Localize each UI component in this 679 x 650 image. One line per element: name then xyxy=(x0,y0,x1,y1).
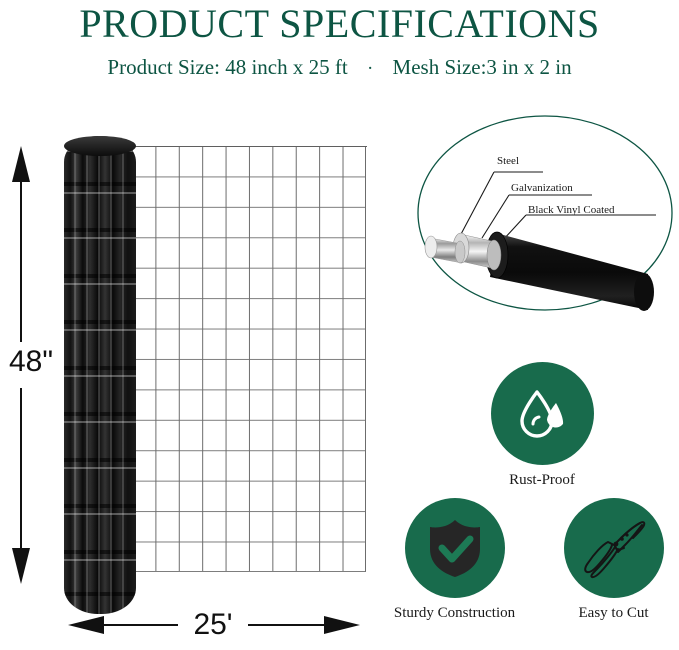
wire-mesh-roll-top-cap xyxy=(64,136,136,156)
height-dimension-label: 48" xyxy=(0,345,62,379)
galvanization-ring xyxy=(487,240,501,270)
product-specifications-infographic: PRODUCT SPECIFICATIONS Product Size: 48 … xyxy=(0,0,679,650)
width-arrow-left-icon xyxy=(68,616,104,634)
feature-easy-to-cut: Easy to Cut xyxy=(551,498,676,623)
feature-sturdy-construction: Sturdy Construction xyxy=(366,498,543,623)
separator-dot-icon: · xyxy=(353,56,387,81)
page-title: PRODUCT SPECIFICATIONS xyxy=(0,2,679,46)
width-dimension-line-left xyxy=(102,624,188,626)
product-size-text: Product Size: 48 inch x 25 ft xyxy=(107,55,347,80)
vinyl-sheath-far-end xyxy=(634,273,654,311)
width-dimension-label: 25' xyxy=(178,608,248,642)
height-arrow-down-icon xyxy=(12,548,30,584)
height-dimension-line-lower xyxy=(20,388,22,550)
callout-label-black-vinyl-coated: Black Vinyl Coated xyxy=(528,204,615,217)
feature-sturdy-construction-circle xyxy=(405,498,505,598)
steel-core-end xyxy=(425,236,437,258)
wire-mesh-grid xyxy=(132,146,366,572)
callout-label-steel: Steel xyxy=(497,155,519,168)
width-arrow-right-icon xyxy=(324,616,360,634)
pliers-icon xyxy=(564,498,664,598)
vinyl-sheath xyxy=(490,233,648,310)
spec-subtitle: Product Size: 48 inch x 25 ft · Mesh Siz… xyxy=(0,55,679,81)
feature-easy-to-cut-label: Easy to Cut xyxy=(551,604,676,623)
water-drop-icon xyxy=(491,362,594,465)
feature-rust-proof: Rust-Proof xyxy=(452,362,632,490)
width-dimension-line-right xyxy=(240,624,326,626)
feature-sturdy-construction-label: Sturdy Construction xyxy=(366,604,543,623)
wire-mesh-top-edge xyxy=(132,146,367,147)
feature-easy-to-cut-circle xyxy=(564,498,664,598)
height-arrow-up-icon xyxy=(12,146,30,182)
feature-rust-proof-circle xyxy=(491,362,594,465)
feature-rust-proof-label: Rust-Proof xyxy=(452,471,632,490)
mesh-size-text: Mesh Size:3 in x 2 in xyxy=(393,55,572,80)
wire-mesh-roll xyxy=(64,136,136,614)
callout-label-galvanization: Galvanization xyxy=(511,182,573,195)
shield-check-icon xyxy=(405,498,505,598)
steel-core-ring xyxy=(455,241,465,263)
height-dimension-line-upper xyxy=(20,180,22,342)
